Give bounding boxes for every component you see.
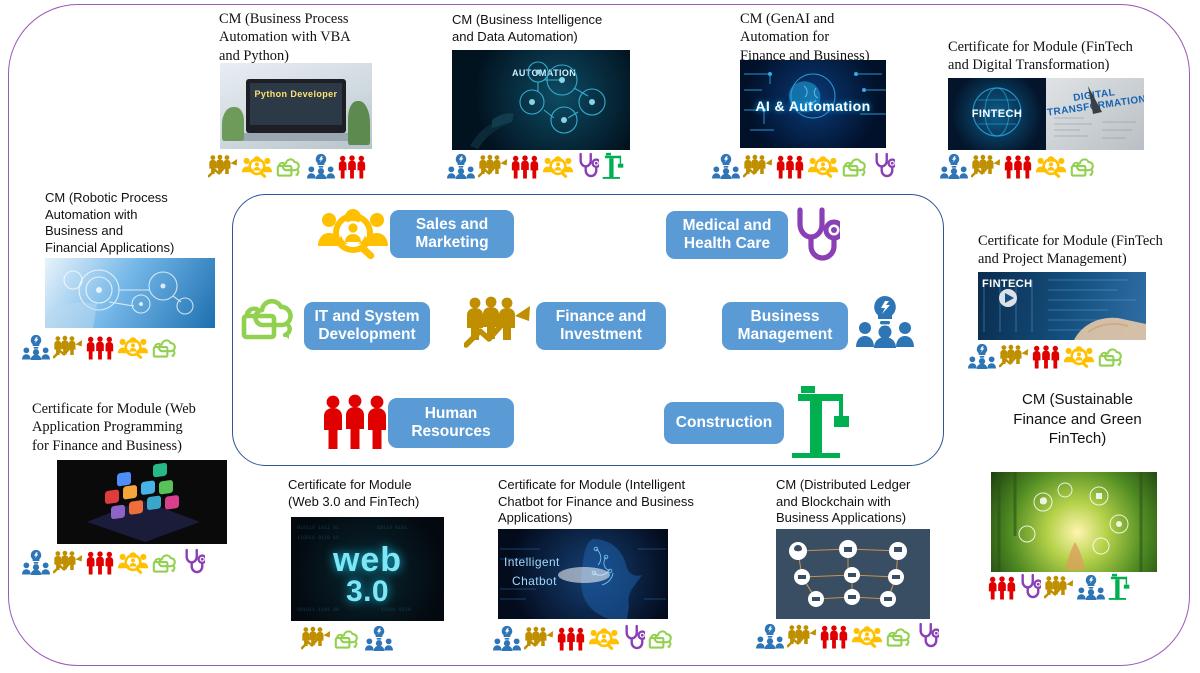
human-resources-icon <box>338 155 366 179</box>
business-management-icon <box>493 624 521 651</box>
thumbnail-caption: FINTECH <box>982 278 1052 290</box>
pill-medical-and-health-care[interactable]: Medical and Health Care <box>666 211 788 259</box>
business-management-icon <box>22 333 50 360</box>
medical-and-health-care-icon <box>917 622 939 649</box>
pill-label-line2: Marketing <box>415 234 488 251</box>
icon-row-genai-automation <box>712 152 895 179</box>
finance-and-investment-icon <box>478 153 508 179</box>
svg-text:010110 1011 01: 010110 1011 01 <box>297 525 339 531</box>
thumbnail-sustainable-finance-green-fintech <box>991 472 1157 572</box>
caption-intelligent-chatbot: Certificate for Module (Intelligent Chat… <box>498 477 733 527</box>
it-and-system-development-icon <box>842 155 870 179</box>
icon-row-robotic-process-automation <box>22 333 180 360</box>
thumbnail-caption-chatbot-line1: Intelligent <box>504 555 584 569</box>
icon-row-distributed-ledger-blockchain <box>756 622 939 649</box>
human-resources-icon <box>557 627 585 651</box>
pill-finance-and-investment[interactable]: Finance and Investment <box>536 302 666 350</box>
svg-text:10110 0101: 10110 0101 <box>377 525 407 531</box>
cloud-computer-icon <box>240 292 302 349</box>
icon-row-sustainable-finance-green-fintech <box>988 573 1134 600</box>
business-management-icon <box>712 152 740 179</box>
thumbnail-genai-automation: AI & Automation <box>740 60 886 148</box>
sales-and-marketing-icon <box>851 625 883 649</box>
finance-and-investment-icon <box>743 153 773 179</box>
sales-and-marketing-icon <box>1035 155 1067 179</box>
thumbnail-business-intelligence: AUTOMATION <box>452 50 630 150</box>
finance-and-investment-icon <box>53 549 83 575</box>
it-and-system-development-icon <box>334 627 362 651</box>
pill-sales-and-marketing[interactable]: Sales and Marketing <box>390 210 514 258</box>
it-and-system-development-icon <box>886 625 914 649</box>
pill-label-line2: Development <box>318 326 415 343</box>
pill-label-line1: Sales and <box>416 216 488 233</box>
stethoscope-icon <box>792 206 840 269</box>
icon-row-fintech-digital-transformation <box>940 152 1098 179</box>
finance-and-investment-icon <box>301 625 331 651</box>
team-lightbulb-icon <box>856 292 914 353</box>
business-management-icon <box>756 622 784 649</box>
thumbnail-distributed-ledger-blockchain <box>776 529 930 619</box>
medical-and-health-care-icon <box>1019 573 1041 600</box>
pill-label-line1: IT and System <box>314 308 419 325</box>
caption-web-application-programming: Certificate for Module (Web Application … <box>32 400 242 455</box>
caption-business-process-automation: CM (Business Process Automation with VBA… <box>219 10 389 65</box>
caption-sustainable-finance-green-fintech: CM (Sustainable Finance and Green FinTec… <box>965 390 1190 449</box>
sales-magnifier-people-icon <box>316 208 390 265</box>
business-management-icon <box>22 548 50 575</box>
caption-distributed-ledger-blockchain: CM (Distributed Ledger and Blockchain wi… <box>776 477 956 527</box>
it-and-system-development-icon <box>1098 345 1126 369</box>
human-resources-icon <box>988 576 1016 600</box>
thumbnail-caption-web3-line2: 3.0 <box>291 575 444 609</box>
business-management-icon <box>1077 573 1105 600</box>
it-and-system-development-icon <box>152 551 180 575</box>
business-management-icon <box>447 152 475 179</box>
thumbnail-web3-fintech: 010110 1011 01110010 0110 11 001011 1101… <box>291 517 444 621</box>
business-management-icon <box>968 342 996 369</box>
thumbnail-robotic-process-automation <box>45 258 215 328</box>
pill-construction[interactable]: Construction <box>664 402 784 444</box>
pill-label-line1: Medical and <box>683 217 772 234</box>
icon-row-business-process-automation <box>208 152 366 179</box>
construction-icon <box>602 152 628 179</box>
pill-label-line1: Finance and <box>556 308 646 325</box>
medical-and-health-care-icon <box>183 548 205 575</box>
human-resources-icon <box>820 625 848 649</box>
three-people-icon <box>322 394 388 455</box>
pill-label-line2: Resources <box>411 423 490 440</box>
thumbnail-caption-chatbot-line2: Chatbot <box>512 574 592 588</box>
it-and-system-development-icon <box>152 336 180 360</box>
construction-icon <box>1108 573 1134 600</box>
icon-row-intelligent-chatbot <box>493 624 676 651</box>
human-resources-icon <box>776 155 804 179</box>
human-resources-icon <box>86 551 114 575</box>
sales-and-marketing-icon <box>1063 345 1095 369</box>
icon-row-web-application-programming <box>22 548 205 575</box>
finance-and-investment-icon <box>208 153 238 179</box>
human-resources-icon <box>86 336 114 360</box>
pill-human-resources[interactable]: Human Resources <box>388 398 514 448</box>
medical-and-health-care-icon <box>577 152 599 179</box>
finance-and-investment-icon <box>524 625 554 651</box>
caption-genai-automation: CM (GenAI and Automation for Finance and… <box>740 10 920 65</box>
it-and-system-development-icon <box>1070 155 1098 179</box>
pill-label-line2: Health Care <box>684 235 770 252</box>
business-management-icon <box>307 152 335 179</box>
human-resources-icon <box>511 155 539 179</box>
thumbnail-fintech-project-management: FINTECH <box>978 272 1146 340</box>
sales-and-marketing-icon <box>542 155 574 179</box>
thumbnail-business-process-automation: Python Developer <box>220 63 372 149</box>
medical-and-health-care-icon <box>623 624 645 651</box>
pill-label-line1: Human <box>425 405 478 422</box>
icon-row-business-intelligence <box>447 152 628 179</box>
pill-business-management[interactable]: Business Management <box>722 302 848 350</box>
sales-and-marketing-icon <box>588 627 620 651</box>
icon-row-fintech-project-management <box>968 342 1126 369</box>
caption-web3-fintech: Certificate for Module (Web 3.0 and FinT… <box>288 477 468 510</box>
thumbnail-intelligent-chatbot: Intelligent Chatbot <box>498 529 668 619</box>
finance-and-investment-icon <box>971 153 1001 179</box>
medical-and-health-care-icon <box>873 152 895 179</box>
caption-robotic-process-automation: CM (Robotic Process Automation with Busi… <box>45 190 225 256</box>
thumbnail-caption: AI & Automation <box>740 98 886 114</box>
pill-it-and-system-development[interactable]: IT and System Development <box>304 302 430 350</box>
icon-row-web3-fintech <box>301 624 393 651</box>
sales-and-marketing-icon <box>117 336 149 360</box>
pill-label-line2: Investment <box>560 326 642 343</box>
growth-people-arrow-icon <box>464 296 532 353</box>
finance-and-investment-icon <box>787 623 817 649</box>
thumbnail-fintech-digital-transformation: FINTECH DIGITAL TRANSFORMATION <box>948 78 1144 150</box>
finance-and-investment-icon <box>999 343 1029 369</box>
business-management-icon <box>940 152 968 179</box>
caption-fintech-digital-transformation: Certificate for Module (FinTech and Digi… <box>948 38 1158 75</box>
sales-and-marketing-icon <box>117 551 149 575</box>
pill-label-line1: Construction <box>676 414 772 432</box>
sales-and-marketing-icon <box>241 155 273 179</box>
caption-fintech-project-management: Certificate for Module (FinTech and Proj… <box>978 232 1188 269</box>
it-and-system-development-icon <box>276 155 304 179</box>
pill-label-line2: Management <box>738 326 833 343</box>
thumbnail-web-application-programming <box>57 460 227 544</box>
thumbnail-caption: Python Developer <box>220 89 372 99</box>
human-resources-icon <box>1032 345 1060 369</box>
caption-business-intelligence: CM (Business Intelligence and Data Autom… <box>452 12 642 45</box>
human-resources-icon <box>1004 155 1032 179</box>
finance-and-investment-icon <box>53 334 83 360</box>
it-and-system-development-icon <box>648 627 676 651</box>
finance-and-investment-icon <box>1044 574 1074 600</box>
pill-label-line1: Business <box>751 308 820 325</box>
thumbnail-caption-fintech: FINTECH <box>948 108 1046 120</box>
sales-and-marketing-icon <box>807 155 839 179</box>
crane-icon <box>790 384 862 463</box>
business-management-icon <box>365 624 393 651</box>
